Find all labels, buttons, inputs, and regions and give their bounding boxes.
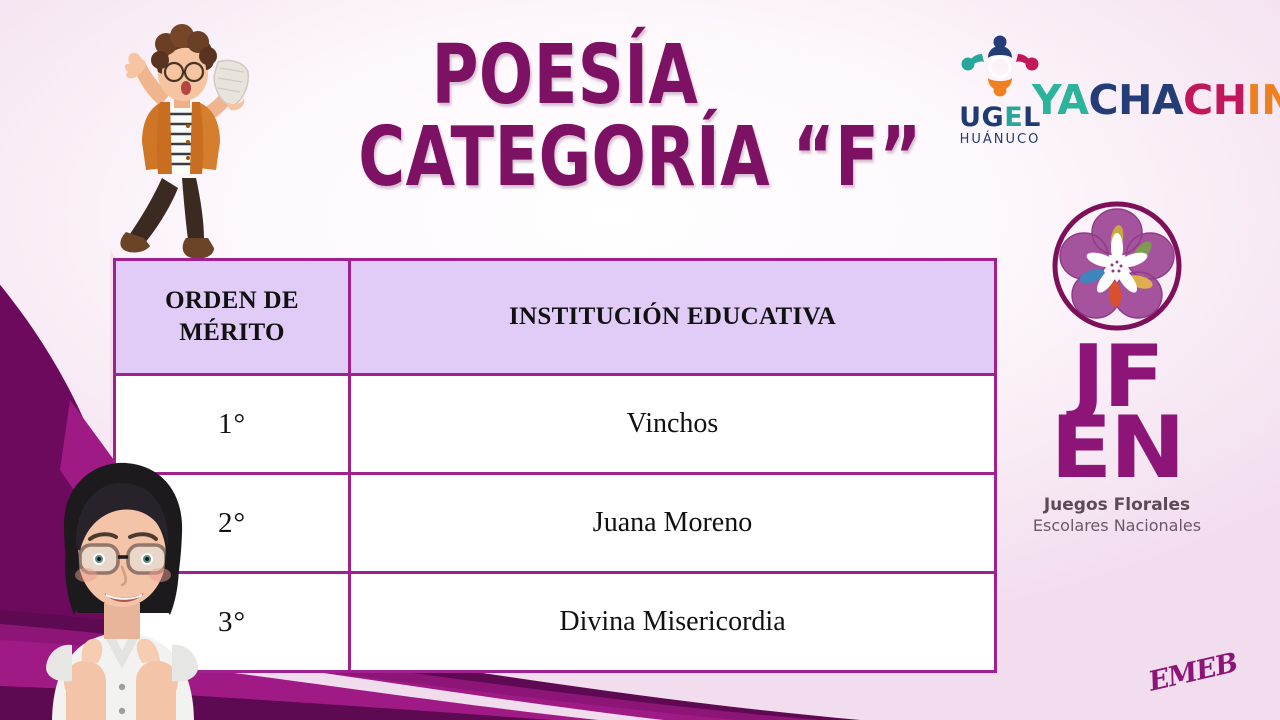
boy-with-paper-illustration (100, 18, 260, 268)
jfen-letters-row-2: EN (1017, 413, 1217, 484)
table-row: 3° Divina Misericordia (115, 573, 996, 672)
jfen-logo: JF EN Juegos Florales Escolares Nacional… (1022, 196, 1212, 535)
table-body: 1° Vinchos 2° Juana Moreno 3° Divina Mis… (115, 375, 996, 672)
jfen-flower-emblem-icon (1047, 196, 1187, 336)
header-orden-line-1: ORDEN DE (165, 287, 299, 314)
signature-emeb: EMEB (1146, 647, 1241, 697)
yachachin-wordmark: YACHACHIN (1032, 76, 1280, 124)
cell-institucion-3: Divina Misericordia (350, 573, 996, 672)
cell-institucion-1: Vinchos (350, 375, 996, 474)
table-header: ORDEN DE MÉRITO INSTITUCIÓN EDUCATIVA (115, 260, 996, 375)
slide-title: POESÍA CATEGORÍA “F” (300, 36, 830, 199)
jfen-letters: JF EN (1022, 342, 1212, 483)
ugel-subtitle: HUÁNUCO (945, 132, 1055, 147)
yachachin-segment-4: IN (1247, 76, 1280, 124)
results-table: ORDEN DE MÉRITO INSTITUCIÓN EDUCATIVA 1°… (113, 258, 997, 673)
ugel-word-part-1: UG (959, 102, 1004, 133)
title-line-2: CATEGORÍA “F” (358, 118, 771, 198)
table-row: 1° Vinchos (115, 375, 996, 474)
header-orden-line-2: MÉRITO (179, 319, 285, 346)
cell-institucion-2: Juana Moreno (350, 474, 996, 573)
yachachin-segment-1: YA (1032, 76, 1089, 124)
yachachin-segment-2: CHA (1089, 76, 1184, 124)
title-line-1: POESÍA (358, 36, 771, 116)
jfen-caption-line-2: Escolares Nacionales (1022, 516, 1212, 535)
slide-canvas: POESÍA CATEGORÍA “F” (0, 0, 1280, 720)
jfen-caption-line-1: Juegos Florales (1022, 495, 1212, 515)
ugel-word-part-2: E (1004, 102, 1023, 133)
column-header-orden-de-merito: ORDEN DE MÉRITO (115, 260, 350, 375)
yachachin-segment-3: CH (1183, 76, 1246, 124)
woman-thumbs-up-3d-avatar (8, 455, 236, 720)
column-header-institucion-educativa: INSTITUCIÓN EDUCATIVA (350, 260, 996, 375)
table-row: 2° Juana Moreno (115, 474, 996, 573)
table-header-row: ORDEN DE MÉRITO INSTITUCIÓN EDUCATIVA (115, 260, 996, 375)
